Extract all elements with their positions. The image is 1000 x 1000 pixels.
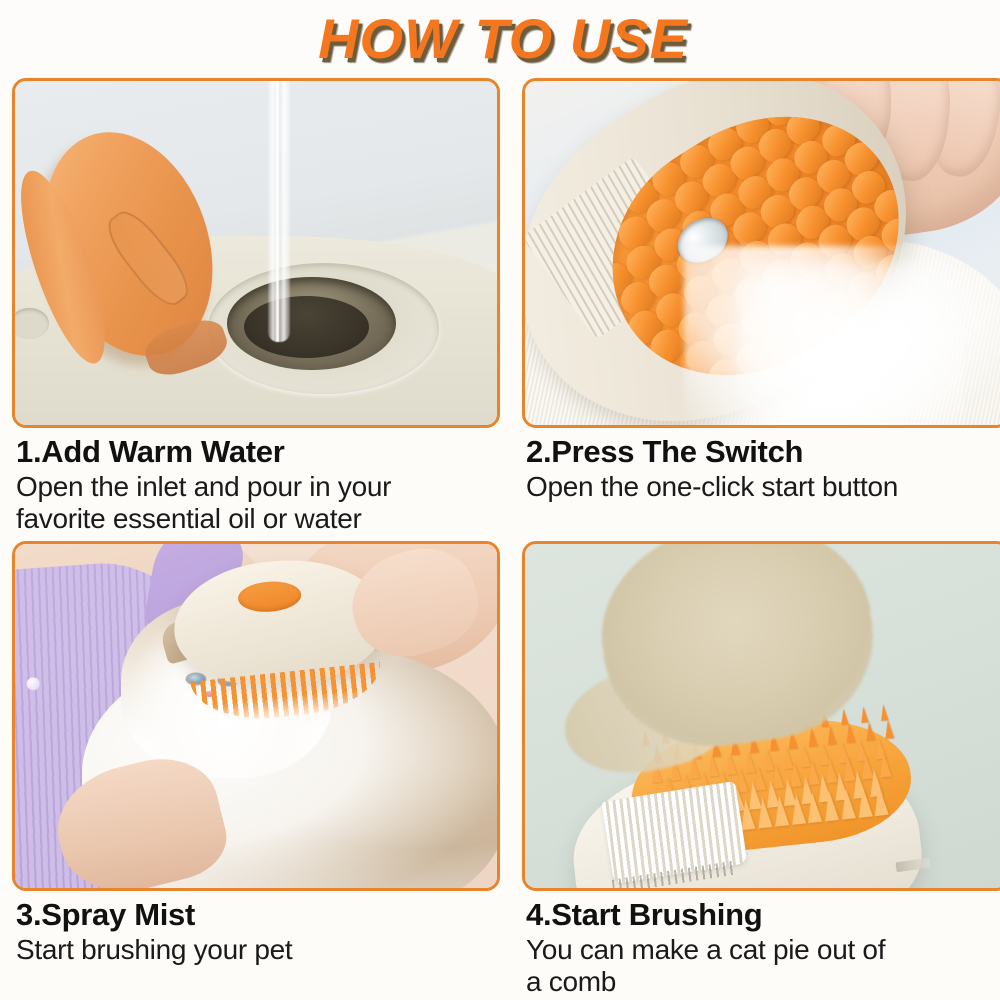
step-card-2: 2.Press The Switch Open the one-click st… [522, 78, 1000, 535]
page-header: HOW TO USE [0, 0, 1000, 78]
top-button [27, 677, 41, 691]
step-card-4: 4.Start Brushing You can make a cat pie … [522, 535, 1000, 998]
bristle-cone [839, 787, 856, 819]
step-2-heading: 2.Press The Switch [526, 434, 1000, 470]
step-1-heading: 1.Add Warm Water [16, 434, 498, 470]
step-4-description-line1: You can make a cat pie out of [526, 934, 1000, 965]
step-card-1: 1.Add Warm Water Open the inlet and pour… [12, 78, 500, 535]
bristle-cone [840, 708, 849, 725]
step-1-description-line1: Open the inlet and pour in your [16, 471, 498, 502]
step-4-description-line2: a comb [526, 966, 1000, 997]
bristle-cone [879, 704, 888, 721]
step-3-heading: 3.Spray Mist [16, 897, 498, 933]
step-2-description-line1: Open the one-click start button [526, 471, 1000, 502]
step-card-3: 3.Spray Mist Start brushing your pet [12, 535, 500, 998]
step-1-description-line2: favorite essential oil or water [16, 503, 498, 534]
page-title: HOW TO USE [312, 11, 688, 67]
step-2-caption: 2.Press The Switch Open the one-click st… [522, 428, 1000, 502]
steam-plume-lower [737, 263, 1000, 425]
step-2-photo [522, 78, 1000, 428]
bristle-cone [860, 706, 869, 723]
step-3-caption: 3.Spray Mist Start brushing your pet [12, 891, 500, 965]
steps-grid: 1.Add Warm Water Open the inlet and pour… [0, 78, 1000, 997]
inlet-opening [244, 296, 369, 358]
bristle-cone [855, 785, 872, 817]
step-4-caption: 4.Start Brushing You can make a cat pie … [522, 891, 1000, 998]
step-3-photo [12, 541, 500, 891]
step-1-photo [12, 78, 500, 428]
water-stream [268, 81, 290, 342]
step-3-description-line1: Start brushing your pet [16, 934, 498, 965]
bristle-cone [789, 792, 806, 824]
bristle-cone [872, 784, 889, 816]
lid-groove [99, 203, 197, 313]
bristle-cone [772, 794, 789, 826]
step-4-photo [522, 541, 1000, 891]
step-4-heading: 4.Start Brushing [526, 897, 1000, 933]
step-1-caption: 1.Add Warm Water Open the inlet and pour… [12, 428, 500, 535]
